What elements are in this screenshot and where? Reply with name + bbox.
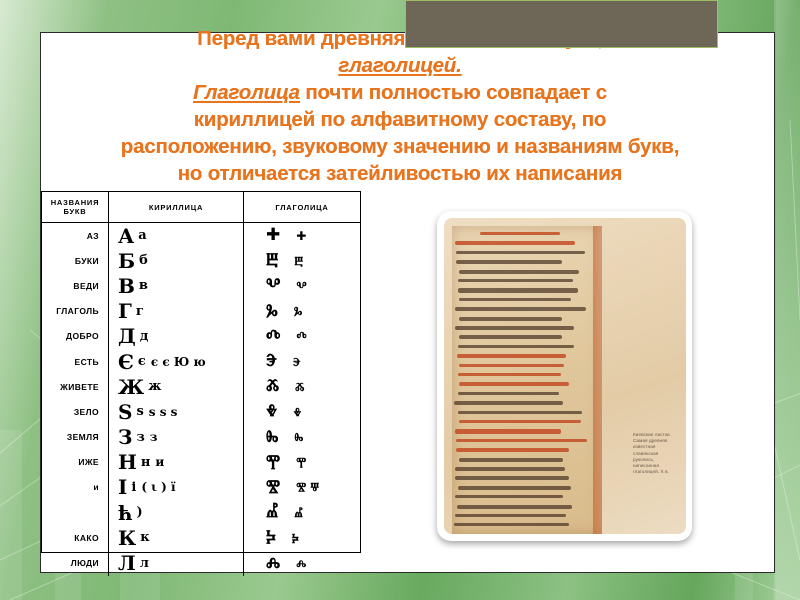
manuscript-text-line [459, 298, 571, 301]
manuscript-text-line [458, 486, 571, 490]
manuscript-text-line [458, 373, 562, 376]
cyrillic-uppercase: З [118, 427, 132, 447]
glagolitic-letter-cell: ⰄⰄ [244, 324, 360, 349]
alphabet-table: НАЗВАНИЯ БУКВ КИРИЛЛИЦА ГЛАГОЛИЦА АЗБУКИ… [41, 191, 361, 553]
cyrillic-letter-cell: Кк [109, 525, 243, 550]
cyrillic-lowercase: ) [137, 506, 143, 519]
letter-name-cell: БУКИ [42, 248, 108, 273]
glagolitic-letter-cell: ⰎⰎ [244, 550, 360, 575]
glagolitic-letter-cell: ⰊⰊ Ⱋ [244, 475, 360, 500]
glagolitic-letter-cell: ⰂⰂ [244, 273, 360, 298]
glagolitic-uppercase: Ⰺ [266, 479, 280, 496]
manuscript-text-line [459, 335, 562, 339]
cyrillic-lowercase: б [139, 254, 148, 267]
cyrillic-uppercase: Ѕ [118, 402, 132, 422]
manuscript-text-line [455, 467, 565, 471]
cyrillic-letter-cell: Лл [109, 550, 243, 575]
manuscript-text-line [455, 476, 569, 480]
manuscript-text-line [456, 448, 568, 452]
letter-name-cell: ЛЮДИ [42, 550, 108, 575]
cyrillic-uppercase: Н [118, 452, 137, 472]
glagolitic-letter-cell: ⰃⰃ [244, 299, 360, 324]
alphabet-table-body: АЗБУКИВЕДИГЛАГОЛЬДОБРОЕСТЬЖИВЕТЕЗЕЛОЗЕМЛ… [42, 223, 360, 576]
cyrillic-uppercase: В [118, 276, 135, 296]
letter-name-cell [42, 500, 108, 525]
cyrillic-uppercase: ћ [118, 503, 133, 523]
alphabet-table-header: НАЗВАНИЯ БУКВ КИРИЛЛИЦА ГЛАГОЛИЦА [42, 192, 360, 223]
manuscript-text-line [455, 429, 562, 434]
cyrillic-letter-cell: Гг [109, 299, 243, 324]
glagolitic-uppercase: Ⰹ [266, 454, 280, 471]
glagolitic-letter-cell: ⰉⰉ [244, 450, 360, 475]
letter-name-cell: ЗЕМЛЯ [42, 425, 108, 450]
glagolitic-letter-cell: ✚✚ [244, 223, 360, 248]
cyrillic-lowercase: а [138, 229, 146, 242]
manuscript-text-line [456, 260, 563, 264]
glagolitic-uppercase: Ⰱ [266, 252, 278, 269]
headline-line-3: Глаголица почти полностью совпадает с [20, 79, 780, 106]
manuscript-text-line [458, 345, 575, 348]
glagolitic-lowercase: Ⰷ [293, 406, 301, 418]
cyrillic-letter-cell: ћ) [109, 500, 243, 525]
manuscript-text-line [459, 364, 565, 368]
glagolitic-uppercase: Ⰸ [266, 429, 278, 446]
glagolitic-uppercase: Ⰷ [266, 403, 277, 420]
alphabet-column-cyrillic: АаБбВвГгДдЄєє є Ю юЖжЅѕѕ ѕ ѕЗззНниІі( ι … [108, 223, 244, 576]
glagolitic-uppercase: ✚ [266, 227, 280, 244]
manuscript-text-line [455, 241, 574, 245]
glagolitic-lowercase: Ⰴ [296, 330, 306, 342]
glagolitic-uppercase: Ⰲ [266, 277, 280, 294]
glagolitic-lowercase: ✚ [296, 230, 306, 242]
glagolitic-uppercase: Ⰵ [266, 353, 277, 370]
glagolitic-lowercase: Ⰱ [294, 255, 303, 267]
cyrillic-letter-cell: Іі( ι ) ї [109, 475, 243, 500]
manuscript-text-line [459, 382, 569, 386]
alphabet-column-glagolitic: ✚✚ⰁⰁⰂⰂⰃⰃⰄⰄⰅⰅⰆⰆⰇⰇⰈⰈⰉⰉⰊⰊ ⰛⰌⰌⰍⰍⰎⰎ [244, 223, 360, 576]
glagolitic-lowercase: Ⰺ Ⱋ [296, 481, 319, 493]
cyrillic-variants: з [150, 431, 158, 443]
cyrillic-uppercase: Д [118, 326, 136, 346]
glagolitic-lowercase: Ⰹ [296, 456, 306, 468]
glagolitic-lowercase: Ⰵ [293, 356, 301, 368]
column-header-letter-names-line1: НАЗВАНИЯ [42, 198, 108, 207]
manuscript-caption: Киевские листки. Самая древняя известная… [633, 432, 681, 475]
manuscript-text-line [458, 392, 559, 396]
glagolitic-uppercase: Ⰶ [266, 378, 279, 395]
glagolitic-letter-cell: ⰇⰇ [244, 399, 360, 424]
glagolitic-uppercase: Ⰾ [266, 555, 280, 572]
cyrillic-letter-cell: Аа [109, 223, 243, 248]
glagolitic-lowercase: Ⰾ [296, 557, 306, 569]
headline-emphasis-glagolitsey: глаголицей. [338, 54, 461, 77]
headline-line-3-rest: почти полностью совпадает с [300, 81, 607, 104]
glagolitic-letter-cell: ⰌⰌ [244, 500, 360, 525]
cyrillic-letter-cell: Жж [109, 374, 243, 399]
glagolitic-lowercase: Ⰸ [294, 431, 303, 443]
manuscript-text-line [458, 288, 578, 292]
letter-name-cell: АЗ [42, 223, 108, 248]
letter-name-cell: ЖИВЕТЕ [42, 374, 108, 399]
manuscript-text-line [455, 326, 575, 330]
glagolitic-lowercase: Ⰽ [292, 532, 299, 544]
manuscript-text-line [457, 505, 572, 509]
manuscript-text-line [458, 279, 573, 282]
manuscript-text-line [457, 354, 566, 358]
glagolitic-lowercase: Ⰶ [295, 381, 304, 393]
letter-name-cell: ЕСТЬ [42, 349, 108, 374]
cyrillic-letter-cell: Бб [109, 248, 243, 273]
cyrillic-lowercase: ѕ [136, 405, 143, 418]
manuscript-text-column [452, 226, 602, 534]
cyrillic-variants: ( ι ) ї [141, 481, 175, 493]
cyrillic-lowercase: г [136, 305, 144, 318]
manuscript-photo-frame[interactable]: Киевские листки. Самая древняя известная… [437, 211, 692, 541]
column-header-letter-names: НАЗВАНИЯ БУКВ [42, 198, 108, 216]
cyrillic-lowercase: в [139, 279, 148, 292]
cyrillic-uppercase: Ж [118, 377, 144, 397]
cyrillic-lowercase: і [131, 481, 136, 494]
cyrillic-uppercase: А [118, 226, 134, 246]
presentation-slide: Перед вами древняя славянская азбука, гл… [0, 0, 800, 600]
cyrillic-letter-cell: Дд [109, 324, 243, 349]
letter-name-cell: ВЕДИ [42, 273, 108, 298]
headline-line-6: но отличается затейливостью их написания [20, 160, 780, 187]
column-header-glagolitic: ГЛАГОЛИЦА [244, 203, 360, 212]
manuscript-text-line [459, 420, 581, 423]
cyrillic-letter-cell: Ззз [109, 425, 243, 450]
letter-name-cell: ЗЕЛО [42, 399, 108, 424]
glagolitic-letter-cell: ⰍⰍ [244, 525, 360, 550]
manuscript-text-line [459, 317, 562, 321]
manuscript-text-line [480, 232, 560, 235]
letter-name-cell: ИЖЕ [42, 450, 108, 475]
cyrillic-uppercase: Л [118, 553, 136, 573]
cyrillic-uppercase: Б [118, 251, 135, 271]
cyrillic-uppercase: І [118, 477, 127, 497]
glagolitic-letter-cell: ⰁⰁ [244, 248, 360, 273]
letter-name-cell: КАКО [42, 525, 108, 550]
letter-name-cell: ГЛАГОЛЬ [42, 299, 108, 324]
glagolitic-uppercase: Ⰽ [266, 529, 276, 546]
headline-line-2: глаголицей. [20, 52, 780, 79]
letter-name-cell: ДОБРО [42, 324, 108, 349]
column-header-letter-names-line2: БУКВ [42, 207, 108, 216]
cyrillic-lowercase: л [140, 557, 149, 570]
headline-line-5: расположению, звуковому значению и назва… [20, 133, 780, 160]
cyrillic-lowercase: н [141, 456, 151, 469]
letter-name-cell: и [42, 475, 108, 500]
glagolitic-uppercase: Ⰴ [266, 328, 280, 345]
cyrillic-lowercase: ж [148, 380, 161, 393]
cyrillic-letter-cell: Нни [109, 450, 243, 475]
cyrillic-variants: и [155, 456, 164, 468]
glagolitic-lowercase: Ⰼ [294, 507, 303, 519]
cyrillic-uppercase: К [118, 528, 136, 548]
cyrillic-variants: ѕ ѕ ѕ [149, 406, 178, 418]
glagolitic-letter-cell: ⰅⰅ [244, 349, 360, 374]
manuscript-text-line [455, 307, 586, 311]
cyrillic-letter-cell: Вв [109, 273, 243, 298]
cyrillic-uppercase: Г [118, 301, 132, 321]
glagolitic-uppercase: Ⰼ [266, 504, 278, 521]
cyrillic-variants: є є Ю ю [151, 356, 206, 368]
column-header-cyrillic: КИРИЛЛИЦА [108, 192, 244, 222]
manuscript-page-image: Киевские листки. Самая древняя известная… [444, 218, 686, 534]
manuscript-text-line [456, 251, 584, 254]
manuscript-text-line [456, 439, 587, 442]
manuscript-text-line [459, 270, 579, 275]
glagolitic-uppercase: Ⰳ [266, 303, 278, 320]
media-placeholder-box[interactable] [405, 0, 718, 48]
headline-line-4: кириллицей по алфавитному составу, по [20, 106, 780, 133]
glagolitic-letter-cell: ⰈⰈ [244, 425, 360, 450]
manuscript-text-line [454, 401, 563, 405]
cyrillic-lowercase: є [138, 355, 146, 368]
headline-emphasis-glagolitsa: Глаголица [193, 81, 300, 104]
cyrillic-lowercase: з [136, 431, 144, 444]
cyrillic-lowercase: к [140, 531, 149, 544]
manuscript-text-line [458, 411, 581, 415]
cyrillic-lowercase: д [140, 330, 149, 343]
cyrillic-uppercase: Є [118, 352, 134, 372]
alphabet-column-names: АЗБУКИВЕДИГЛАГОЛЬДОБРОЕСТЬЖИВЕТЕЗЕЛОЗЕМЛ… [42, 223, 108, 576]
manuscript-text-line [454, 523, 568, 526]
glagolitic-lowercase: Ⰳ [294, 305, 302, 317]
manuscript-text-line [455, 495, 563, 498]
cyrillic-letter-cell: Ѕѕѕ ѕ ѕ [109, 399, 243, 424]
glagolitic-letter-cell: ⰆⰆ [244, 374, 360, 399]
slide-headline: Перед вами древняя славянская азбука, гл… [20, 25, 780, 187]
manuscript-text-line [455, 514, 566, 517]
glagolitic-lowercase: Ⰲ [296, 280, 306, 292]
cyrillic-letter-cell: Єєє є Ю ю [109, 349, 243, 374]
manuscript-text-line [459, 458, 563, 462]
